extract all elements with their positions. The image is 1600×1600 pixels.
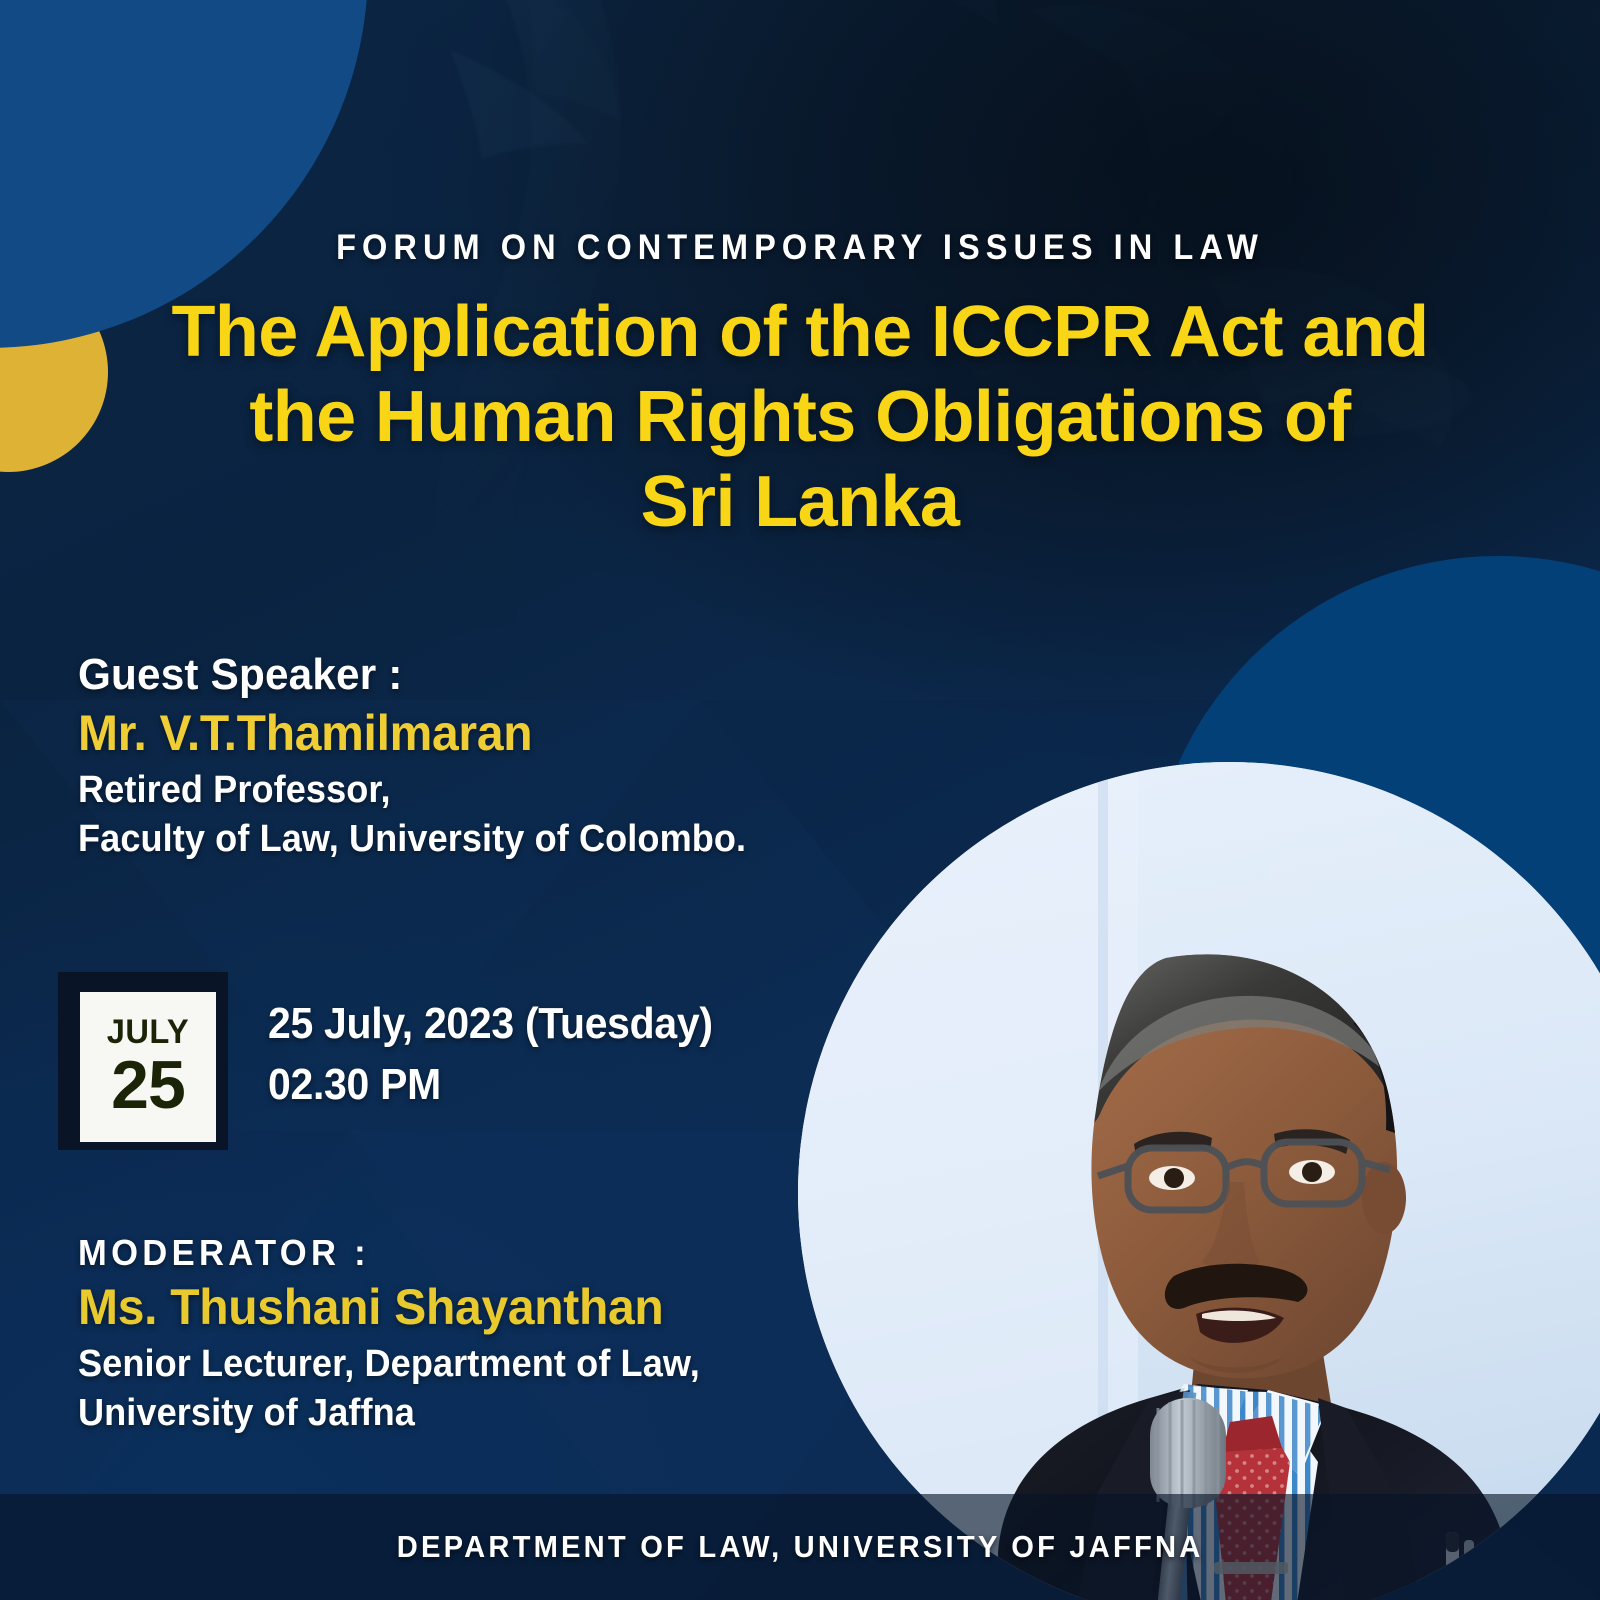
guest-speaker-block: Guest Speaker : Mr. V.T.Thamilmaran Reti… bbox=[78, 650, 781, 863]
guest-speaker-name: Mr. V.T.Thamilmaran bbox=[78, 704, 753, 762]
footer-bar: DEPARTMENT OF LAW, UNIVERSITY OF JAFFNA bbox=[0, 1494, 1600, 1600]
calendar-month: JULY bbox=[107, 1015, 189, 1049]
moderator-affiliation: Senior Lecturer, Department of Law, Univ… bbox=[78, 1340, 700, 1437]
calendar-icon-card: JULY 25 bbox=[80, 992, 216, 1142]
guest-speaker-affiliation-line-1: Retired Professor, bbox=[78, 766, 746, 815]
event-time: 02.30 PM bbox=[268, 1055, 713, 1116]
guest-speaker-label: Guest Speaker : bbox=[78, 650, 753, 700]
calendar-icon: JULY 25 bbox=[58, 972, 228, 1150]
footer-text: DEPARTMENT OF LAW, UNIVERSITY OF JAFFNA bbox=[397, 1529, 1204, 1565]
page-kicker: FORUM ON CONTEMPORARY ISSUES IN LAW bbox=[56, 228, 1544, 268]
moderator-name: Ms. Thushani Shayanthan bbox=[78, 1278, 706, 1336]
page-title: The Application of the ICCPR Act and the… bbox=[100, 290, 1500, 545]
calendar-day: 25 bbox=[111, 1051, 185, 1119]
title-line-3: Sri Lanka bbox=[100, 460, 1500, 545]
moderator-block: MODERATOR : Ms. Thushani Shayanthan Seni… bbox=[78, 1232, 733, 1437]
event-datetime-text: 25 July, 2023 (Tuesday) 02.30 PM bbox=[268, 972, 746, 1115]
event-date: 25 July, 2023 (Tuesday) bbox=[268, 994, 713, 1055]
moderator-affiliation-line-1: Senior Lecturer, Department of Law, bbox=[78, 1340, 700, 1389]
moderator-label: MODERATOR : bbox=[78, 1232, 706, 1274]
guest-speaker-affiliation-line-2: Faculty of Law, University of Colombo. bbox=[78, 815, 746, 864]
event-datetime-block: JULY 25 25 July, 2023 (Tuesday) 02.30 PM bbox=[58, 972, 746, 1150]
moderator-affiliation-line-2: University of Jaffna bbox=[78, 1389, 700, 1438]
title-line-1: The Application of the ICCPR Act and bbox=[100, 290, 1500, 375]
event-poster: FORUM ON CONTEMPORARY ISSUES IN LAW The … bbox=[0, 0, 1600, 1600]
title-line-2: the Human Rights Obligations of bbox=[100, 375, 1500, 460]
guest-speaker-affiliation: Retired Professor, Faculty of Law, Unive… bbox=[78, 766, 746, 863]
